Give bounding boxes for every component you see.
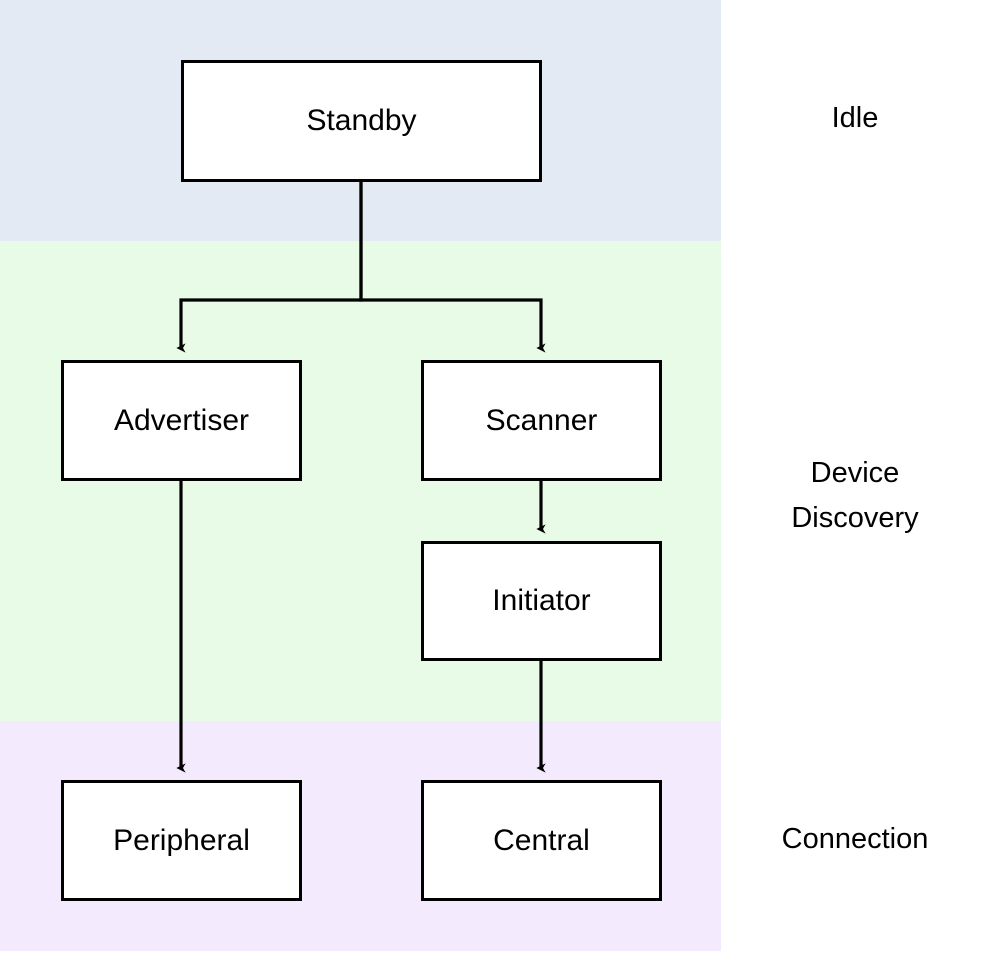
state-node-advertiser[interactable]: Advertiser [61,360,302,481]
diagram-canvas: Idle Device Discovery Connection Standby… [0,0,990,960]
state-node-initiator-label: Initiator [492,584,590,618]
state-node-standby-label: Standby [306,104,416,138]
band-label-connection: Connection [735,817,975,862]
state-node-advertiser-label: Advertiser [114,404,249,438]
state-node-peripheral-label: Peripheral [113,824,250,858]
state-node-initiator[interactable]: Initiator [421,541,662,661]
band-label-idle: Idle [735,96,975,141]
state-node-scanner-label: Scanner [486,404,598,438]
band-label-device-discovery: Device Discovery [735,451,975,541]
state-node-central[interactable]: Central [421,780,662,901]
state-node-scanner[interactable]: Scanner [421,360,662,481]
state-node-standby[interactable]: Standby [181,60,542,182]
state-node-central-label: Central [493,824,590,858]
state-node-peripheral[interactable]: Peripheral [61,780,302,901]
